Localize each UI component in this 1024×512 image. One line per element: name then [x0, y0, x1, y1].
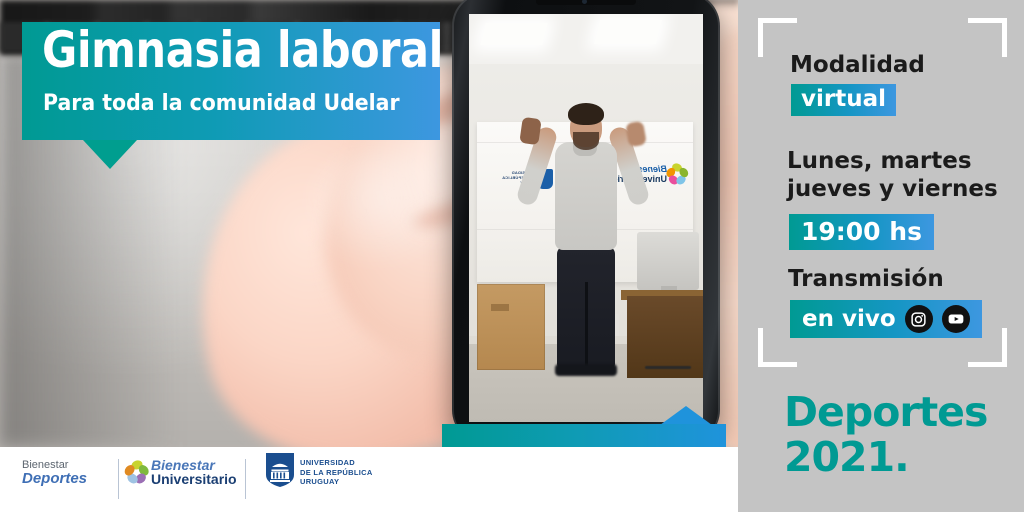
- bracket-top-right: [968, 18, 1007, 57]
- logo-udelar-text: UNIVERSIDAD DE LA REPÚBLICA URUGUAY: [300, 458, 373, 487]
- phone-bezel: [452, 0, 720, 444]
- page-title: Gimnasia laboral: [42, 24, 443, 76]
- page-subtitle: Para toda la comunidad Udelar: [43, 92, 400, 116]
- instagram-icon[interactable]: [905, 305, 933, 333]
- program-title-line-1: Deportes: [784, 390, 987, 435]
- logo-udelar-line-1: UNIVERSIDAD: [300, 458, 373, 468]
- logo-udelar-line-3: URUGUAY: [300, 477, 373, 487]
- bienestar-flower-icon: [124, 458, 150, 486]
- program-title-line-2: 2021.: [784, 435, 987, 480]
- logo-deportes-line-2: Deportes: [22, 470, 87, 488]
- broadcast-badge: en vivo: [790, 300, 982, 338]
- logo-universitario-line-2: Universitario: [151, 471, 237, 487]
- days-line-1: Lunes, martes: [787, 148, 972, 175]
- registration-banner-tail: [660, 406, 712, 425]
- title-banner-tail: [83, 140, 137, 169]
- modality-label: Modalidad: [790, 52, 925, 79]
- footer-divider-1: [118, 459, 119, 499]
- footer-divider-2: [245, 459, 246, 499]
- smartphone: UNIVERSIDADDE LA REPÚBLICAURUGUAY Bienes…: [452, 0, 720, 444]
- days-line-2: jueves y viernes: [787, 176, 998, 203]
- broadcast-label: Transmisión: [788, 266, 944, 293]
- promotional-poster: UNIVERSIDADDE LA REPÚBLICAURUGUAY Bienes…: [0, 0, 1024, 512]
- youtube-icon[interactable]: [942, 305, 970, 333]
- time-badge: 19:00 hs: [789, 214, 934, 250]
- udelar-shield-icon: [265, 452, 295, 488]
- broadcast-value: en vivo: [802, 300, 896, 338]
- program-title: Deportes 2021.: [784, 390, 987, 480]
- logo-udelar-line-2: DE LA REPÚBLICA: [300, 468, 373, 478]
- modality-value-badge: virtual: [791, 84, 896, 116]
